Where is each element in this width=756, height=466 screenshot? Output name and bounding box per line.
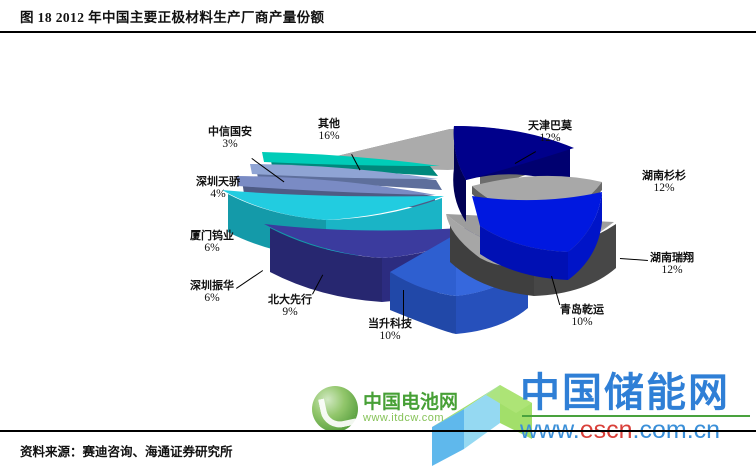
pie-label-beidaxianxing: 北大先行 9% — [268, 294, 312, 319]
watermark-escn: 中国储能网 www.escn.com.cn — [520, 373, 756, 459]
pie-label-shenzhenzhenhua-percent: 6% — [190, 292, 234, 305]
pie-label-tianjinbamo-name: 天津巴莫 — [528, 120, 572, 132]
pie-label-tianjinbamo: 天津巴莫 12% — [528, 120, 572, 145]
pie-label-shenzhenzhenhua-name: 深圳振华 — [190, 280, 234, 292]
pie-label-tianjinbamo-percent: 12% — [528, 132, 572, 145]
pie-label-qita-percent: 16% — [318, 130, 340, 143]
source-note: 资料来源：赛迪咨询、海通证券研究所 — [20, 441, 233, 460]
pie-label-dangshengkeji: 当升科技 10% — [368, 318, 412, 343]
pie-label-zhongxinguoan: 中信国安 3% — [208, 126, 252, 151]
pie-label-hunanruixiang: 湖南瑞翔 12% — [650, 252, 694, 277]
pie-label-hunanruixiang-name: 湖南瑞翔 — [650, 252, 694, 264]
pie-label-zhongxinguoan-name: 中信国安 — [208, 126, 252, 138]
pie-label-qingdaoqianyun-name: 青岛乾运 — [560, 304, 604, 316]
pie-label-xiamenwuye-name: 厦门钨业 — [190, 230, 234, 242]
globe-icon — [312, 386, 358, 432]
pie-label-xiamenwuye: 厦门钨业 6% — [190, 230, 234, 255]
pie-label-shenzhentianjiao-percent: 4% — [196, 188, 240, 201]
pie-label-qita: 其他 16% — [318, 118, 340, 143]
pie-label-beidaxianxing-name: 北大先行 — [268, 294, 312, 306]
pie-chart: 其他 16% 中信国安 3% 深圳天骄 4% 厦门钨业 6% 深圳振华 6% 北… — [0, 36, 756, 426]
pie-label-shenzhentianjiao: 深圳天骄 4% — [196, 176, 240, 201]
pie-label-shenzhenzhenhua: 深圳振华 6% — [190, 280, 234, 305]
pie-label-hunanshanshan-name: 湖南杉杉 — [642, 170, 686, 182]
pie-label-xiamenwuye-percent: 6% — [190, 242, 234, 255]
report-figure-page: 图 18 2012 年中国主要正极材料生产厂商产量份额 — [0, 0, 756, 466]
page-title: 图 18 2012 年中国主要正极材料生产厂商产量份额 — [20, 6, 324, 26]
watermark-escn-name: 中国储能网 — [520, 373, 756, 413]
pie-label-zhongxinguoan-percent: 3% — [208, 138, 252, 151]
pie-label-hunanshanshan-percent: 12% — [642, 182, 686, 195]
pie-label-qita-name: 其他 — [318, 118, 340, 130]
leader-line-hunanruixiang — [620, 258, 648, 261]
pie-label-qingdaoqianyun: 青岛乾运 10% — [560, 304, 604, 329]
pie-label-hunanruixiang-percent: 12% — [650, 264, 694, 277]
pie-label-beidaxianxing-percent: 9% — [268, 306, 312, 319]
title-divider — [0, 31, 756, 33]
footer-divider — [0, 430, 756, 432]
pie-label-dangshengkeji-percent: 10% — [368, 330, 412, 343]
pie-label-qingdaoqianyun-percent: 10% — [560, 316, 604, 329]
pie-label-shenzhentianjiao-name: 深圳天骄 — [196, 176, 240, 188]
leader-line-dangshengkeji — [403, 290, 404, 318]
pie-label-hunanshanshan: 湖南杉杉 12% — [642, 170, 686, 195]
figure-title-bar: 图 18 2012 年中国主要正极材料生产厂商产量份额 — [0, 0, 756, 31]
pie-label-dangshengkeji-name: 当升科技 — [368, 318, 412, 330]
